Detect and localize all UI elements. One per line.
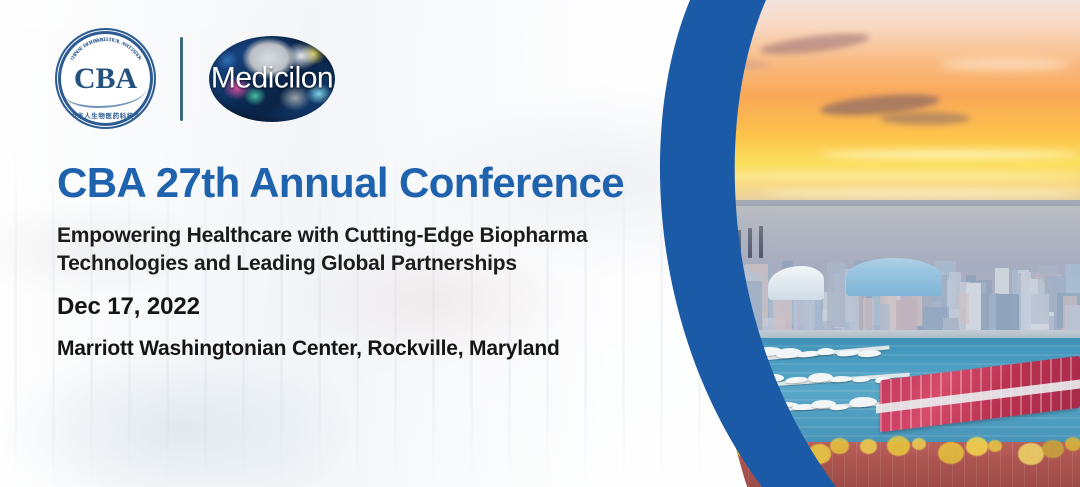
subtitle-line-1: Empowering Healthcare with Cutting-Edge …	[57, 222, 587, 250]
cba-logo: CHINESE BIOPHARMACEUTICAL ASSOCIATION CB…	[55, 28, 156, 129]
medicilon-wordmark: Medicilon	[209, 61, 335, 95]
logo-row: CHINESE BIOPHARMACEUTICAL ASSOCIATION CB…	[55, 28, 335, 129]
cba-chinese-text: 美中华人生物医药科技协会	[57, 110, 154, 120]
banner-content: CHINESE BIOPHARMACEUTICAL ASSOCIATION CB…	[0, 0, 700, 487]
page-title: CBA 27th Annual Conference	[57, 162, 624, 204]
event-date: Dec 17, 2022	[57, 293, 200, 321]
subtitle-line-2: Technologies and Leading Global Partners…	[57, 250, 587, 278]
cba-wordmark: CBA	[74, 64, 137, 94]
subtitle: Empowering Healthcare with Cutting-Edge …	[57, 222, 587, 278]
logo-divider	[180, 37, 183, 121]
conference-banner: CHINESE BIOPHARMACEUTICAL ASSOCIATION CB…	[0, 0, 1080, 487]
medicilon-logo: Medicilon	[209, 36, 335, 122]
event-venue: Marriott Washingtonian Center, Rockville…	[57, 337, 560, 361]
